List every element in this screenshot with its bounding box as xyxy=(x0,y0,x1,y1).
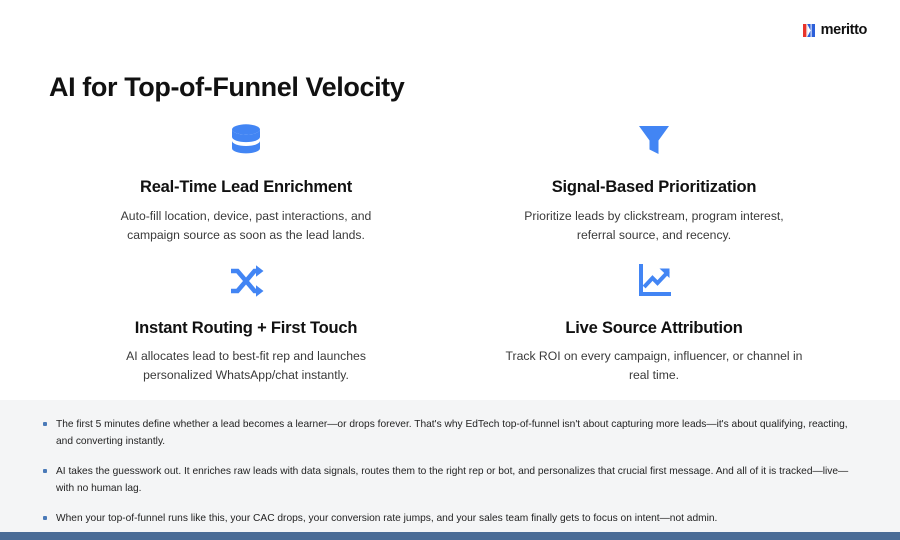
bottom-accent-bar xyxy=(0,532,900,540)
feature-title: Instant Routing + First Touch xyxy=(73,319,419,339)
feature-card-live-source-attribution: Live Source Attribution Track ROI on eve… xyxy=(457,259,851,386)
funnel-icon xyxy=(481,118,827,162)
feature-description: Prioritize leads by clickstream, program… xyxy=(504,207,804,245)
bullet-marker-icon xyxy=(43,469,47,473)
feature-card-instant-routing-first-touch: Instant Routing + First Touch AI allocat… xyxy=(49,259,443,386)
page-title: AI for Top-of-Funnel Velocity xyxy=(49,71,404,103)
meritto-logo-mark-icon xyxy=(803,24,818,37)
feature-card-signal-based-prioritization: Signal-Based Prioritization Prioritize l… xyxy=(457,118,851,245)
feature-description: Track ROI on every campaign, influencer,… xyxy=(504,347,804,385)
feature-title: Live Source Attribution xyxy=(481,319,827,339)
list-item: When your top-of-funnel runs like this, … xyxy=(40,511,860,528)
feature-card-real-time-lead-enrichment: Real-Time Lead Enrichment Auto-fill loca… xyxy=(49,118,443,245)
bullet-marker-icon xyxy=(43,516,47,520)
list-item-text: The first 5 minutes define whether a lea… xyxy=(56,419,848,447)
list-item-text: When your top-of-funnel runs like this, … xyxy=(56,513,717,524)
feature-title: Real-Time Lead Enrichment xyxy=(73,178,419,198)
list-item: AI takes the guesswork out. It enriches … xyxy=(40,464,860,497)
meritto-logo-text: meritto xyxy=(821,23,867,38)
feature-description: Auto-fill location, device, past interac… xyxy=(96,207,396,245)
database-icon xyxy=(73,118,419,162)
list-item-text: AI takes the guesswork out. It enriches … xyxy=(56,466,848,494)
slide-root: meritto AI for Top-of-Funnel Velocity Re… xyxy=(0,0,900,540)
shuffle-icon xyxy=(73,259,419,303)
bullet-marker-icon xyxy=(43,422,47,426)
meritto-logo: meritto xyxy=(803,23,867,38)
feature-description: AI allocates lead to best-fit rep and la… xyxy=(96,347,396,385)
summary-panel: The first 5 minutes define whether a lea… xyxy=(0,400,900,532)
feature-grid: Real-Time Lead Enrichment Auto-fill loca… xyxy=(49,118,851,385)
feature-title: Signal-Based Prioritization xyxy=(481,178,827,198)
list-item: The first 5 minutes define whether a lea… xyxy=(40,417,860,450)
trending-chart-icon xyxy=(481,259,827,303)
summary-bullet-list: The first 5 minutes define whether a lea… xyxy=(40,417,860,528)
